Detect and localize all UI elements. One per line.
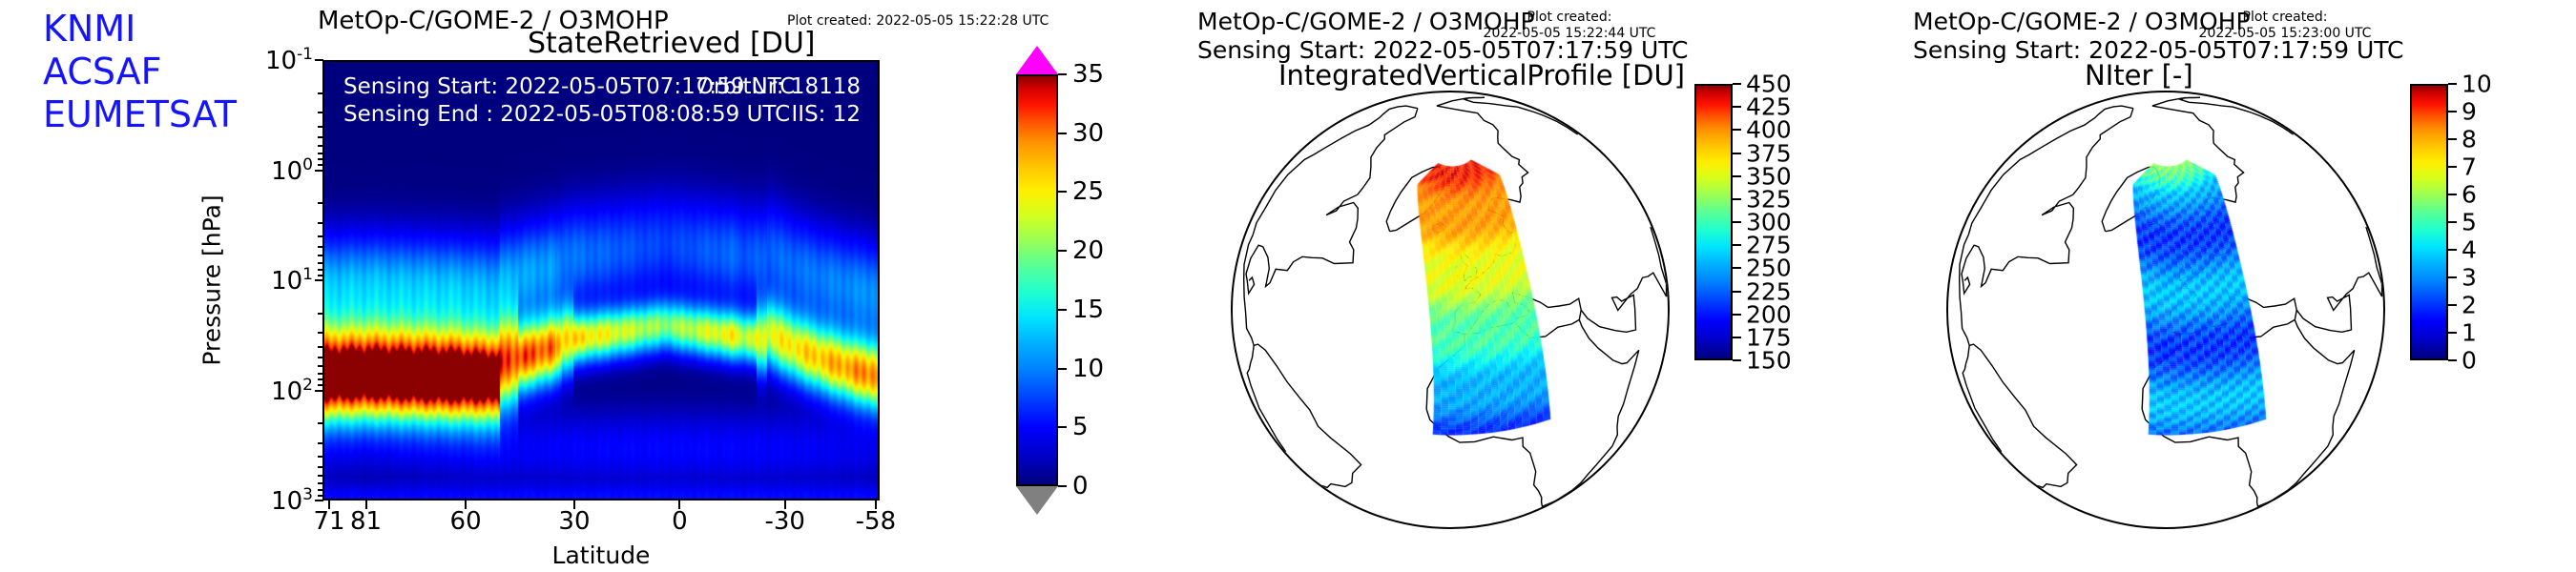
colorbar1-tick-label: 35: [1072, 60, 1104, 89]
panel1-y-minor-tick: [318, 275, 323, 276]
colorbar-tick-mark: [1733, 153, 1741, 154]
colorbar-tick-label: 0: [2462, 347, 2477, 375]
panel-integrated-vertical-profile: MetOp-C/GOME-2 / O3MOHP Plot created: 20…: [1145, 0, 1860, 572]
colorbar-tick-mark: [2448, 166, 2457, 168]
panel1-y-minor-tick: [318, 332, 323, 334]
panel1-y-tick-mark: [315, 500, 323, 501]
panel1-y-minor-tick: [318, 158, 323, 160]
colorbar-tick-mark: [2448, 194, 2457, 195]
panel1-orbit-annotation: OrbitNr: 18118 IIS: 12: [696, 73, 861, 130]
panel1-y-minor-tick: [318, 126, 323, 128]
panel1-y-minor-tick: [318, 235, 323, 237]
colorbar2: [1694, 84, 1733, 360]
figure-canvas: KNMI ACSAF EUMETSAT MetOp-C/GOME-2 / O3M…: [0, 0, 2576, 572]
colorbar1-tick-label: 30: [1072, 119, 1104, 148]
colorbar-tick-label: 6: [2462, 181, 2477, 209]
colorbar3: [2410, 84, 2448, 360]
panel1-y-tick-mark: [315, 170, 323, 172]
colorbar1-tick-label: 15: [1072, 296, 1104, 324]
colorbar1-tick-mark: [1058, 73, 1067, 75]
colorbar-tick-mark: [2448, 332, 2457, 334]
colorbar-tick-mark: [2448, 276, 2457, 278]
panel1-y-tick-label: 101: [221, 265, 313, 296]
panel1-y-minor-tick: [318, 442, 323, 444]
panel1-y-tick-mark: [315, 390, 323, 392]
colorbar-tick-mark: [1733, 244, 1741, 246]
panel1-x-tick-label: 81: [350, 507, 382, 536]
colorbar-tick-mark: [1733, 106, 1741, 108]
colorbar-tick-mark: [2448, 304, 2457, 306]
panel2-globe-wrap: [1231, 91, 1670, 529]
colorbar-tick-mark: [1733, 359, 1741, 361]
panel3-orbit-swath: [1948, 92, 2385, 529]
panel1-y-minor-tick: [318, 456, 323, 458]
colorbar-tick-mark: [1733, 314, 1741, 316]
panel1-x-tick-label: 0: [672, 507, 688, 536]
panel1-y-minor-tick: [318, 489, 323, 491]
colorbar1-under-arrow: [1016, 486, 1058, 515]
panel1-y-minor-tick: [318, 475, 323, 477]
panel2-plot-created-label: Plot created:: [1474, 10, 1665, 26]
panel1-y-minor-tick: [318, 92, 323, 94]
panel1-y-minor-tick: [318, 202, 323, 204]
panel1-axes: Sensing Start: 2022-05-05T07:17:59 UTC S…: [322, 60, 880, 500]
panel1-y-minor-tick: [318, 466, 323, 468]
panel1-y-minor-tick: [318, 222, 323, 224]
panel1-y-tick-label: 100: [221, 155, 313, 186]
colorbar1-tick-mark: [1058, 309, 1067, 311]
panel1-x-tick-label: 71: [313, 507, 344, 536]
colorbar1-tick-mark: [1058, 485, 1067, 487]
colorbar-tick-label: 2: [2462, 292, 2477, 319]
colorbar-tick-mark: [1733, 267, 1741, 269]
colorbar-tick-mark: [2448, 249, 2457, 251]
panel1-y-minor-tick: [318, 378, 323, 380]
panel1-orbit-nr: OrbitNr: 18118: [696, 73, 861, 101]
panel1-y-minor-tick: [318, 255, 323, 256]
colorbar-tick-mark: [1733, 291, 1741, 293]
panel1-x-tick-label: 60: [450, 507, 482, 536]
colorbar-tick-mark: [1733, 83, 1741, 85]
panel1-x-tick-label: 30: [558, 507, 590, 536]
panel1-x-tick-label: -30: [764, 507, 804, 536]
colorbar-tick-mark: [2448, 111, 2457, 112]
panel1-y-minor-tick: [318, 357, 323, 358]
panel1-y-minor-tick: [318, 373, 323, 375]
panel1-plot-created: Plot created: 2022-05-05 15:22:28 UTC: [787, 13, 1049, 29]
colorbar1-tick-label: 25: [1072, 177, 1104, 206]
colorbar1-tick-mark: [1058, 368, 1067, 370]
colorbar-tick-label: 7: [2462, 153, 2477, 181]
colorbar1-tick-label: 10: [1072, 355, 1104, 383]
colorbar-tick-mark: [2448, 359, 2457, 361]
colorbar1-tick-label: 5: [1072, 413, 1089, 441]
colorbar-tick-label: 10: [2462, 71, 2492, 98]
panel1-y-minor-tick: [318, 365, 323, 367]
panel1-y-minor-tick: [318, 269, 323, 271]
colorbar-tick-mark: [2448, 138, 2457, 140]
colorbar-tick-mark: [2448, 83, 2457, 85]
panel1-y-minor-tick: [318, 164, 323, 166]
panel1-y-tick-label: 103: [221, 485, 313, 516]
panel-niter: MetOp-C/GOME-2 / O3MOHP Plot created: 20…: [1860, 0, 2576, 572]
colorbar1-over-arrow: [1016, 46, 1058, 74]
panel1-iis: IIS: 12: [696, 101, 861, 129]
panel1-y-minor-tick: [318, 384, 323, 386]
panel1-y-tick-label: 10-1: [221, 45, 313, 75]
colorbar1-tick-mark: [1058, 250, 1067, 252]
panel3-variable-title: NIter [-]: [2085, 59, 2193, 92]
panel3-plot-created-label: Plot created:: [2190, 10, 2380, 26]
colorbar1-tick-label: 0: [1072, 472, 1089, 500]
colorbar1-tick-mark: [1058, 133, 1067, 134]
panel1-y-minor-tick: [318, 313, 323, 315]
panel1-variable-title: StateRetrieved [DU]: [528, 27, 816, 60]
panel2-orbit-swath: [1233, 92, 1670, 529]
panel1-y-tick-mark: [315, 59, 323, 61]
panel1-y-minor-tick: [318, 145, 323, 147]
panel2-globe: [1231, 91, 1670, 529]
panel1-y-minor-tick: [318, 246, 323, 248]
panel3-globe-wrap: [1946, 91, 2385, 529]
colorbar-tick-label: 4: [2462, 236, 2477, 264]
colorbar1-tick-mark: [1058, 426, 1067, 428]
panel1-y-minor-tick: [318, 112, 323, 113]
colorbar-tick-label: 9: [2462, 98, 2477, 126]
panel1-y-tick-mark: [315, 279, 323, 281]
colorbar1: [1016, 74, 1058, 486]
colorbar-tick-mark: [1733, 221, 1741, 223]
panel1-y-tick-label: 102: [221, 376, 313, 406]
colorbar1-tick-mark: [1058, 191, 1067, 193]
colorbar-tick-label: 1: [2462, 319, 2477, 347]
panel1-x-tick-label: -58: [856, 507, 896, 536]
colorbar-tick-mark: [1733, 175, 1741, 177]
panel1-y-minor-tick: [318, 153, 323, 154]
colorbar-tick-mark: [1733, 337, 1741, 338]
colorbar-tick-label: 3: [2462, 264, 2477, 292]
panel1-y-minor-tick: [318, 482, 323, 484]
colorbar-tick-label: 450: [1746, 71, 1792, 98]
panel1-y-minor-tick: [318, 422, 323, 424]
panel1-y-minor-tick: [318, 346, 323, 348]
colorbar-tick-mark: [2448, 221, 2457, 223]
panel-state-retrieved: MetOp-C/GOME-2 / O3MOHP StateRetrieved […: [0, 0, 1145, 572]
colorbar-tick-mark: [1733, 129, 1741, 131]
colorbar1-tick-label: 20: [1072, 236, 1104, 265]
colorbar-tick-mark: [1733, 198, 1741, 200]
panel2-variable-title: IntegratedVerticalProfile [DU]: [1278, 59, 1685, 92]
panel1-y-minor-tick: [318, 136, 323, 138]
panel3-globe: [1946, 91, 2385, 529]
colorbar-tick-label: 8: [2462, 126, 2477, 153]
panel1-y-minor-tick: [318, 495, 323, 497]
panel1-x-axis-label: Latitude: [552, 541, 651, 569]
colorbar-tick-label: 5: [2462, 209, 2477, 236]
panel1-y-minor-tick: [318, 262, 323, 264]
